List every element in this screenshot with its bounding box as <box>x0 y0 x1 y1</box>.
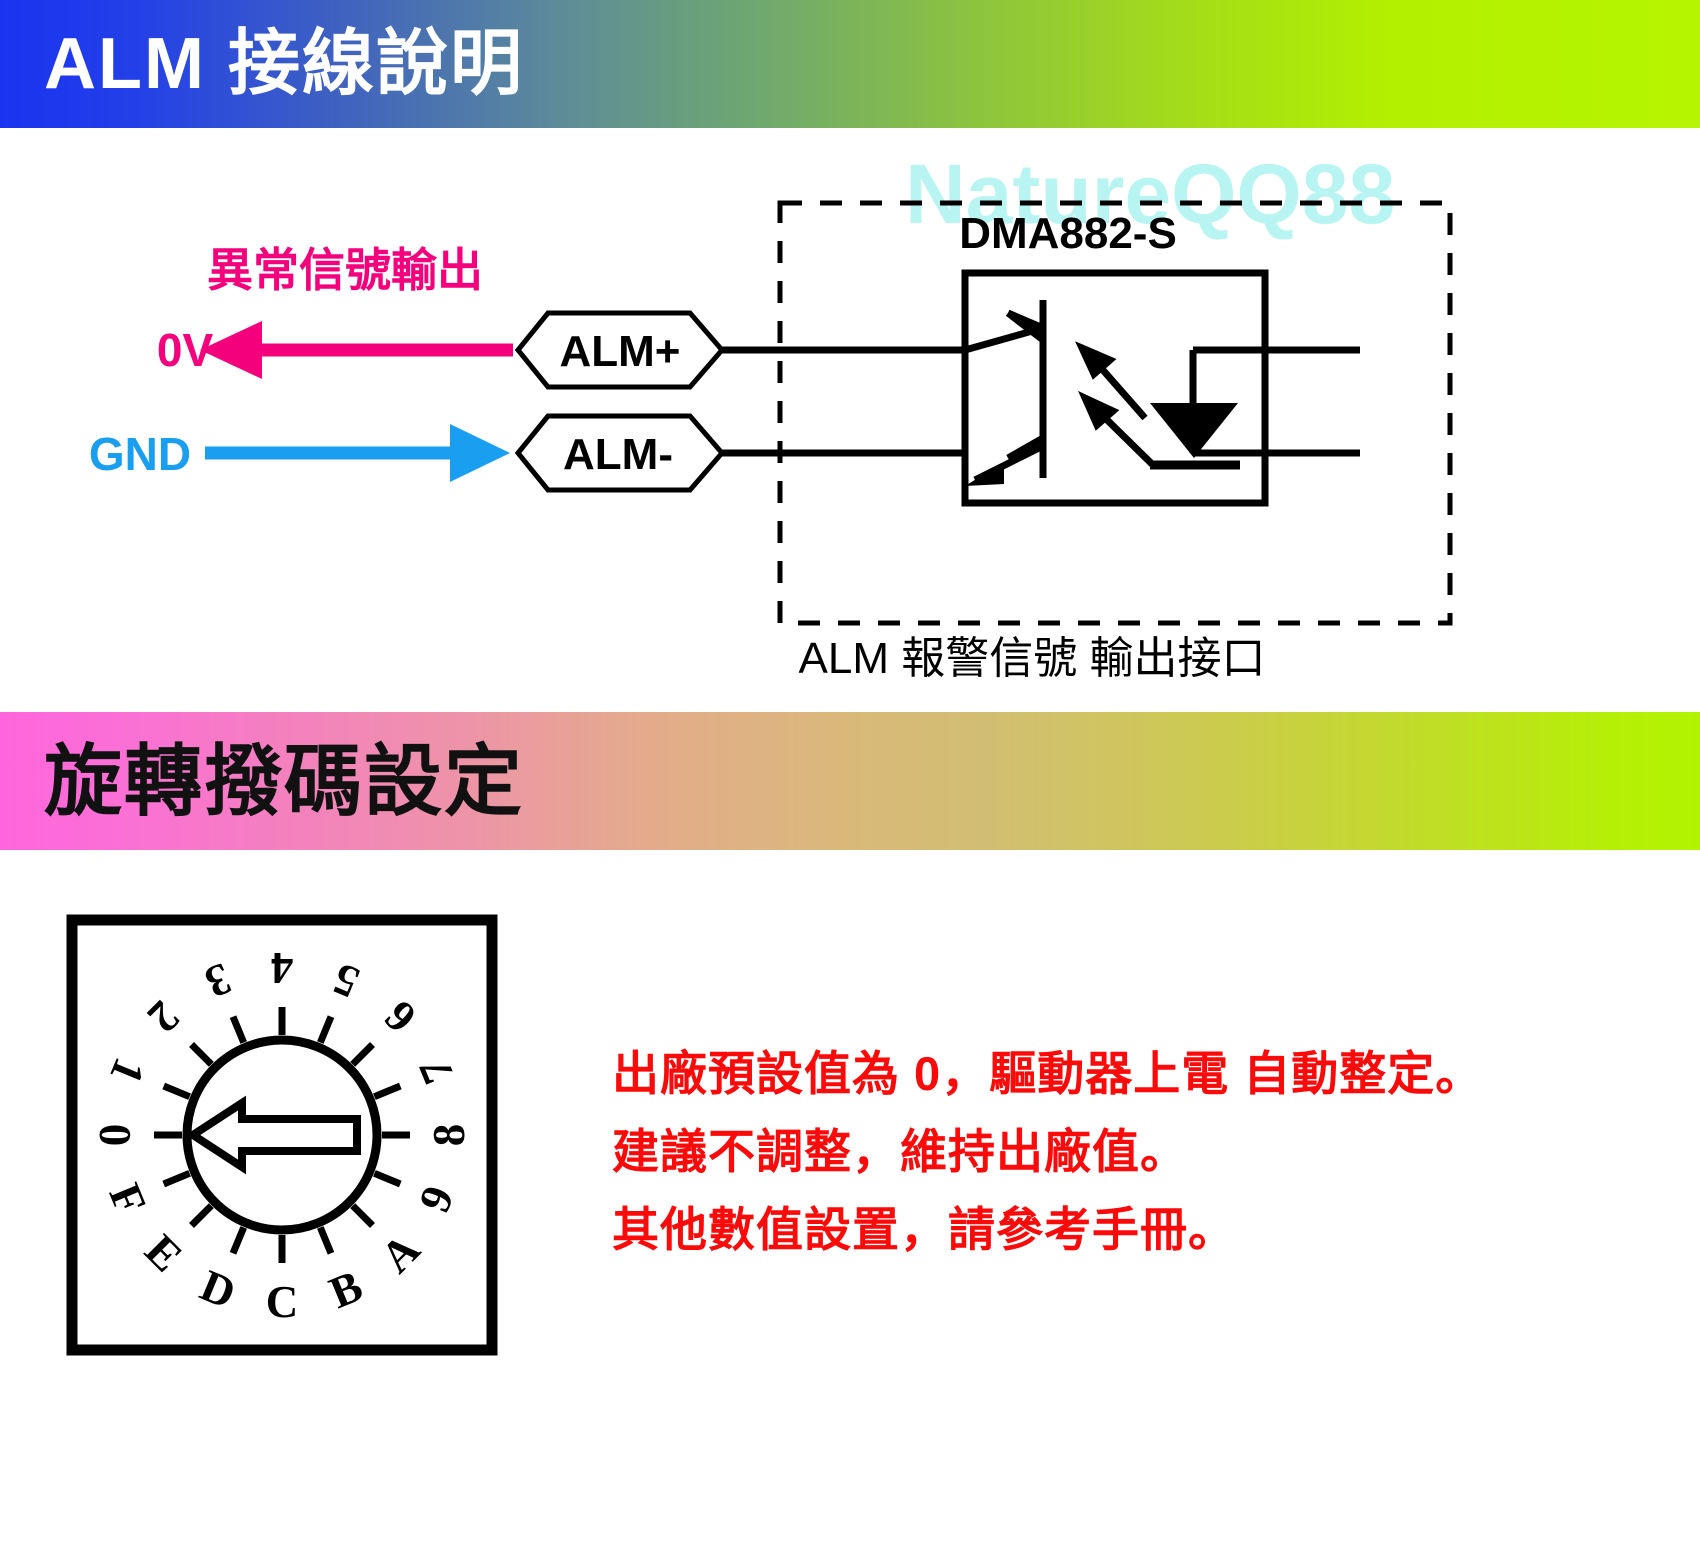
rotary-label-C: C <box>266 1277 299 1327</box>
section-header-alm-wiring: ALM 接線說明 <box>0 0 1700 128</box>
alm-wiring-diagram: NatureQQ88 異常信號輸出 0V ALM+ GND ALM- <box>0 128 1700 708</box>
rotary-label-0: 0 <box>90 1124 140 1147</box>
rotary-note-line-3: 其他數值設置，請參考手冊。 <box>612 1191 1632 1269</box>
rotary-label-8: 8 <box>424 1124 474 1147</box>
connector-label-alm-minus: ALM- <box>563 430 673 479</box>
section-title-alm-wiring: ALM 接線說明 <box>44 28 524 100</box>
rotary-switch-illustration: 0123456789ABCDEF <box>30 890 630 1490</box>
rotary-label-4: 4 <box>271 943 294 993</box>
rotary-notes: 出廠預設值為 0，驅動器上電 自動整定。 建議不調整，維持出廠值。 其他數值設置… <box>612 1035 1632 1269</box>
arrowhead-right-blue <box>450 424 510 482</box>
alm-interface-caption: ALM 報警信號 輸出接口 <box>799 634 1266 683</box>
wire-gnd-blue <box>205 424 510 482</box>
rotary-note-line-2: 建議不調整，維持出廠值。 <box>612 1113 1632 1191</box>
connector-label-alm-plus: ALM+ <box>560 327 681 376</box>
abnormal-signal-output-label: 異常信號輸出 <box>207 244 483 296</box>
rotary-switch-section: 0123456789ABCDEF 出廠預設值為 0，驅動器上電 自動整定。 建議… <box>0 850 1700 1560</box>
section-title-rotary-dip: 旋轉撥碼設定 <box>44 742 524 820</box>
wire-0v-pink <box>200 321 513 379</box>
connector-alm-minus: ALM- <box>518 416 722 490</box>
connector-alm-plus: ALM+ <box>518 313 722 387</box>
led-diode-icon <box>1150 350 1240 465</box>
rotary-note-line-1: 出廠預設值為 0，驅動器上電 自動整定。 <box>612 1035 1632 1113</box>
device-model-label: DMA882-S <box>959 209 1177 258</box>
terminal-label-gnd: GND <box>89 428 191 480</box>
phototransistor-icon <box>965 300 1043 486</box>
section-header-rotary-dip: 旋轉撥碼設定 <box>0 712 1700 850</box>
optocoupler-symbol <box>965 273 1265 503</box>
light-arrows-icon <box>1082 348 1153 465</box>
